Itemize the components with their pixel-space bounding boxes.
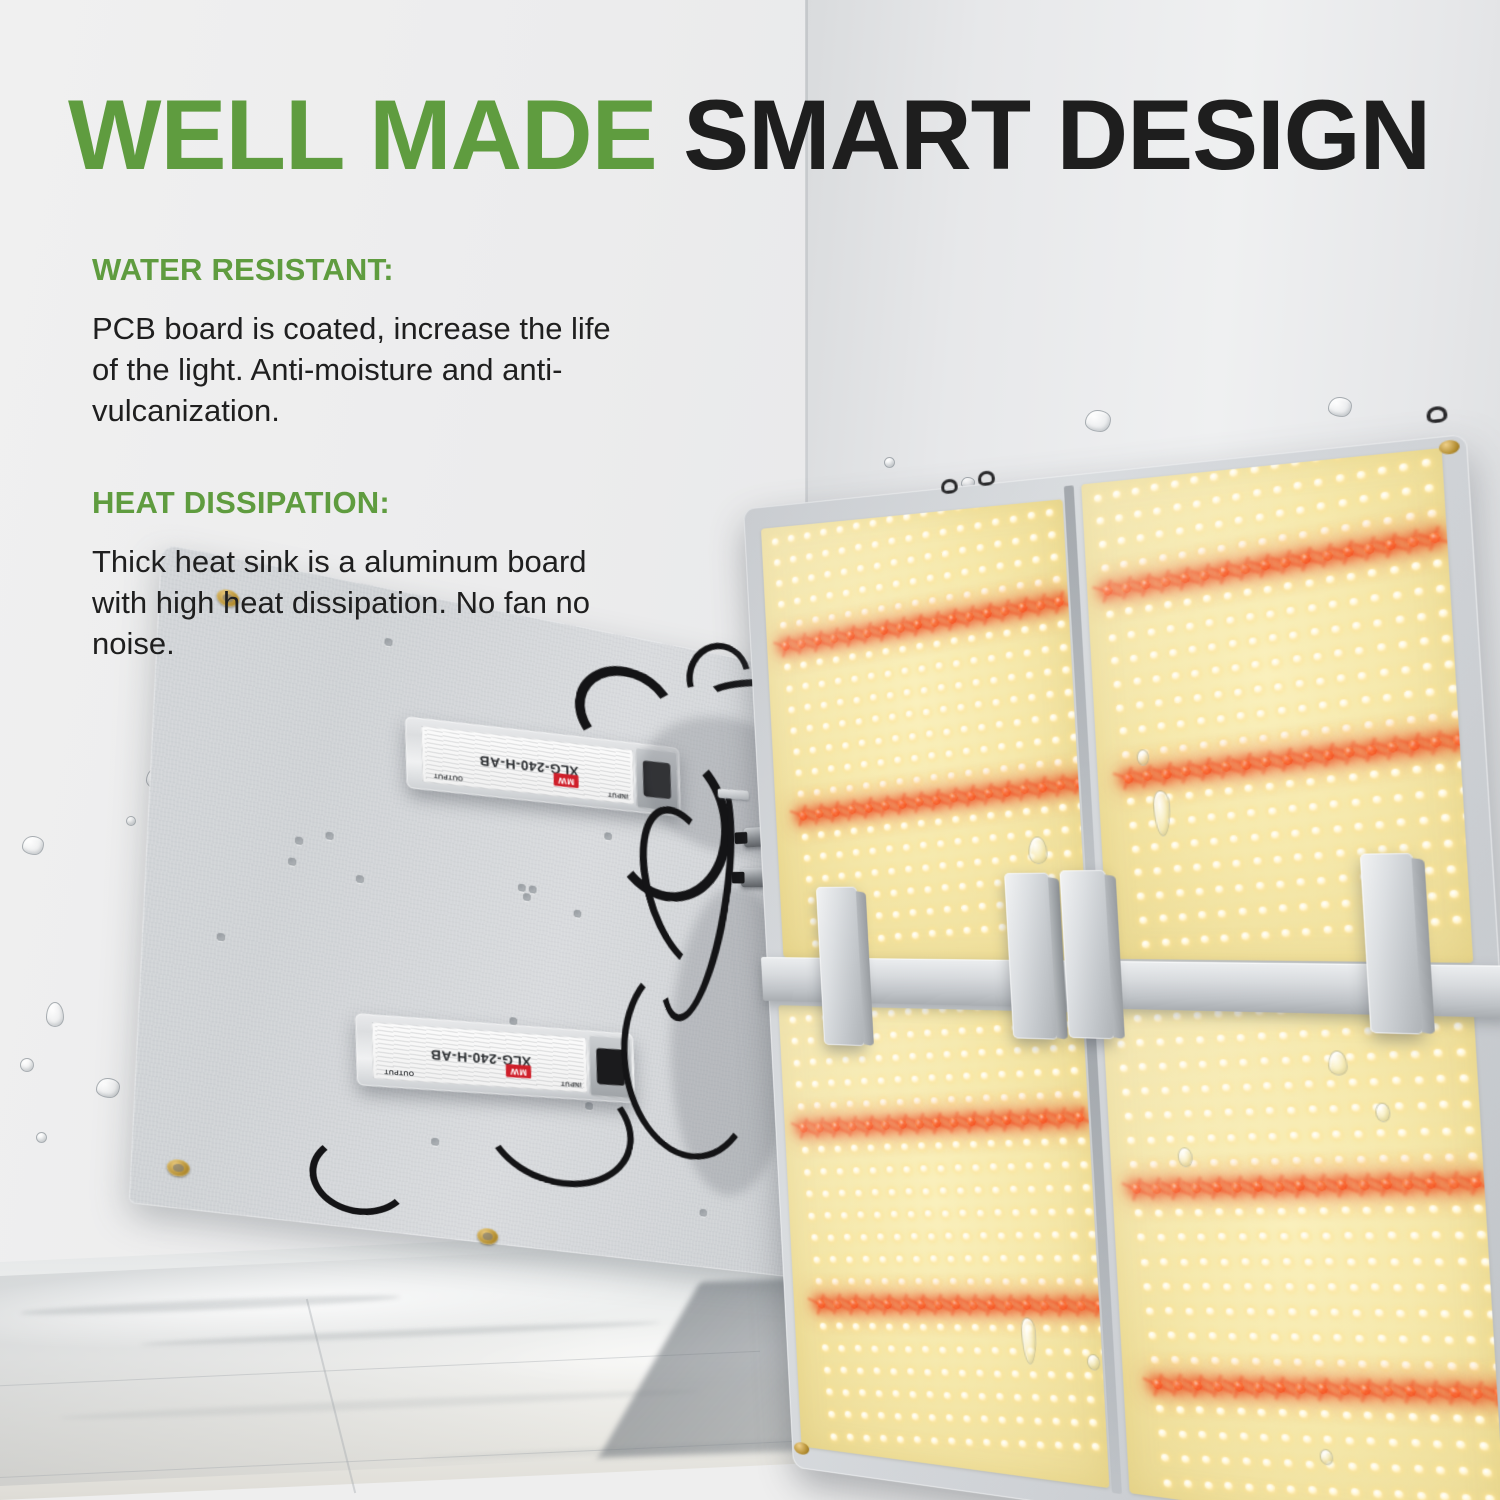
white-led xyxy=(1251,661,1260,669)
red-led xyxy=(1123,773,1134,783)
white-led xyxy=(1284,1459,1293,1468)
white-led xyxy=(1397,819,1406,827)
white-led xyxy=(1198,911,1207,919)
white-led xyxy=(1347,572,1356,581)
white-led xyxy=(1047,691,1055,699)
white-led xyxy=(1205,789,1214,797)
white-led xyxy=(856,718,863,725)
white-led xyxy=(1396,1309,1405,1318)
white-led xyxy=(838,547,845,555)
white-led xyxy=(1088,1231,1096,1239)
white-led xyxy=(1374,1309,1383,1318)
white-led xyxy=(1138,725,1146,733)
white-led xyxy=(1341,1207,1350,1216)
white-led xyxy=(1231,664,1240,672)
white-led xyxy=(824,571,831,579)
white-led xyxy=(1414,587,1423,596)
white-led xyxy=(849,654,856,662)
white-led xyxy=(880,1099,887,1107)
white-led xyxy=(828,614,835,622)
white-led xyxy=(1139,1063,1147,1071)
white-led xyxy=(885,670,892,678)
white-led xyxy=(1144,604,1152,612)
white-led xyxy=(901,822,908,829)
white-led xyxy=(980,745,988,753)
white-led xyxy=(1287,1485,1296,1494)
white-led xyxy=(924,1368,931,1376)
white-led xyxy=(786,685,793,692)
white-led xyxy=(1349,1283,1358,1292)
white-led xyxy=(902,513,909,521)
white-led xyxy=(1290,1132,1299,1140)
white-led xyxy=(1109,634,1117,642)
white-led xyxy=(1196,1406,1205,1415)
white-led xyxy=(835,678,842,685)
white-led xyxy=(1173,503,1181,511)
white-led xyxy=(1023,808,1031,816)
white-led xyxy=(878,934,885,941)
white-led xyxy=(861,1078,868,1085)
white-led xyxy=(844,1079,851,1086)
feature-heat-dissipation: HEAT DISSIPATION: Thick heat sink is a a… xyxy=(92,485,632,665)
white-led xyxy=(797,791,804,798)
white-led xyxy=(1011,696,1019,704)
white-led xyxy=(1036,761,1044,769)
white-led xyxy=(1044,669,1052,677)
red-led xyxy=(966,791,976,801)
white-led xyxy=(963,1073,971,1081)
white-led xyxy=(1161,939,1169,947)
white-led xyxy=(1335,474,1344,483)
white-led xyxy=(855,1345,862,1353)
red-led xyxy=(916,1299,926,1309)
white-led xyxy=(1218,1233,1227,1241)
white-led xyxy=(1277,1207,1286,1215)
white-led xyxy=(1020,1278,1028,1286)
red-led xyxy=(1057,1300,1067,1311)
white-led xyxy=(1340,699,1349,707)
red-led xyxy=(1054,597,1064,607)
red-led xyxy=(1160,576,1171,587)
white-led xyxy=(924,1029,931,1036)
white-led xyxy=(965,1095,973,1103)
white-led xyxy=(959,547,967,555)
water-droplet xyxy=(22,836,44,855)
white-led xyxy=(1276,510,1285,519)
white-led xyxy=(1000,1255,1008,1263)
white-led xyxy=(1348,773,1357,781)
red-led xyxy=(1338,1384,1350,1396)
white-led xyxy=(948,1096,956,1104)
red-led xyxy=(1179,573,1190,584)
white-led xyxy=(1436,1466,1446,1475)
white-led xyxy=(1134,869,1142,877)
white-led xyxy=(1328,600,1337,609)
red-led xyxy=(931,795,941,805)
red-led xyxy=(1253,1382,1264,1393)
white-led xyxy=(1130,654,1138,662)
white-led xyxy=(1477,1231,1487,1240)
white-led xyxy=(1222,1084,1231,1092)
white-led xyxy=(1310,628,1319,636)
white-led xyxy=(1370,1078,1379,1086)
white-led xyxy=(1243,589,1252,597)
white-led xyxy=(818,831,825,838)
white-led xyxy=(1328,1283,1337,1292)
white-led xyxy=(1010,1186,1018,1194)
red-led xyxy=(932,1118,942,1128)
white-led xyxy=(1201,935,1210,943)
red-led xyxy=(879,626,888,636)
white-led xyxy=(812,1080,819,1087)
white-led xyxy=(996,1393,1004,1401)
white-led xyxy=(869,1323,876,1331)
red-led xyxy=(984,1116,994,1126)
white-led xyxy=(1142,1087,1150,1095)
white-led xyxy=(975,701,983,709)
white-led xyxy=(809,746,816,753)
red-led xyxy=(1211,1182,1222,1193)
white-led xyxy=(1320,901,1329,909)
white-led xyxy=(1424,867,1433,875)
white-led xyxy=(913,1255,920,1263)
white-led xyxy=(822,550,829,558)
white-led xyxy=(1048,531,1056,539)
white-led xyxy=(1114,680,1122,688)
white-led xyxy=(1344,1232,1353,1241)
white-led xyxy=(858,1211,865,1219)
white-led xyxy=(1417,1102,1426,1111)
white-led xyxy=(1224,1481,1233,1490)
white-led xyxy=(1186,622,1194,630)
white-led xyxy=(940,1187,948,1195)
white-led xyxy=(1045,1348,1053,1356)
white-led xyxy=(1031,1046,1039,1054)
white-led xyxy=(862,783,869,790)
white-led xyxy=(841,1212,848,1220)
white-led xyxy=(1433,1440,1442,1449)
white-led xyxy=(1459,1074,1469,1083)
white-led xyxy=(1053,576,1061,584)
white-led xyxy=(956,1346,964,1354)
red-led xyxy=(913,620,923,630)
white-led xyxy=(1143,1282,1151,1290)
white-led xyxy=(853,1167,860,1175)
white-led xyxy=(1031,716,1039,724)
white-led xyxy=(1222,1456,1231,1465)
white-led xyxy=(925,730,932,738)
red-led xyxy=(1001,787,1011,797)
white-led xyxy=(1355,1334,1364,1343)
white-led xyxy=(831,1433,838,1441)
white-led xyxy=(1005,1140,1013,1148)
red-led xyxy=(1171,1183,1182,1194)
white-led xyxy=(1276,880,1285,888)
white-led xyxy=(890,889,897,896)
white-led xyxy=(789,706,796,713)
white-led xyxy=(970,657,978,665)
white-led xyxy=(824,1366,831,1374)
red-led xyxy=(1151,1184,1162,1195)
white-led xyxy=(997,1232,1005,1240)
white-led xyxy=(1299,1409,1308,1418)
white-led xyxy=(1054,759,1062,767)
white-led xyxy=(1059,1138,1067,1146)
white-led xyxy=(1178,913,1186,921)
white-led xyxy=(1301,1232,1310,1241)
white-led xyxy=(1247,809,1256,817)
white-led xyxy=(990,1163,998,1171)
white-led xyxy=(1053,1418,1061,1426)
white-led xyxy=(864,1434,871,1442)
white-led xyxy=(842,1057,849,1064)
white-led xyxy=(812,616,819,624)
white-led xyxy=(858,740,865,747)
white-led xyxy=(1338,875,1347,883)
white-led xyxy=(1441,1309,1451,1318)
white-led xyxy=(1309,803,1318,811)
red-led xyxy=(1199,570,1210,581)
white-led xyxy=(895,1413,902,1421)
white-led xyxy=(990,676,998,684)
white-led xyxy=(968,635,976,643)
white-led xyxy=(1344,924,1353,932)
white-led xyxy=(1151,483,1159,491)
white-led xyxy=(1069,1395,1077,1403)
white-led xyxy=(1015,741,1023,749)
red-led xyxy=(1239,563,1250,574)
white-led xyxy=(1016,1070,1024,1078)
red-led xyxy=(1315,1180,1327,1191)
white-led xyxy=(1239,736,1248,744)
white-led xyxy=(961,905,969,912)
red-led xyxy=(848,1122,857,1132)
white-led xyxy=(1149,1160,1157,1168)
white-led xyxy=(806,876,813,883)
white-led xyxy=(1258,537,1267,546)
red-led xyxy=(966,1117,976,1127)
white-led xyxy=(1401,666,1410,675)
white-led xyxy=(1421,459,1430,468)
white-led xyxy=(852,522,859,530)
white-led xyxy=(874,891,881,898)
white-led xyxy=(975,1186,983,1194)
white-led xyxy=(896,778,903,785)
white-led xyxy=(1210,837,1219,845)
white-led xyxy=(981,1415,989,1423)
red-led xyxy=(1407,536,1419,547)
white-led xyxy=(1376,1129,1385,1138)
red-led xyxy=(1161,769,1172,779)
white-led xyxy=(1078,1137,1086,1145)
white-led xyxy=(907,888,914,895)
white-led xyxy=(1307,1283,1316,1292)
white-led xyxy=(1371,594,1380,603)
white-led xyxy=(1030,1371,1038,1379)
white-led xyxy=(1057,621,1065,629)
white-led xyxy=(1291,829,1300,837)
white-led xyxy=(1362,520,1371,529)
white-led xyxy=(858,1056,865,1063)
white-led xyxy=(1085,1207,1093,1215)
white-led xyxy=(1064,849,1072,857)
white-led xyxy=(1195,887,1204,895)
white-led xyxy=(1038,1278,1046,1286)
white-led xyxy=(964,1415,972,1423)
white-led xyxy=(1381,491,1390,500)
white-led xyxy=(822,874,829,881)
white-led xyxy=(999,924,1007,931)
red-led xyxy=(1232,1182,1243,1193)
red-led xyxy=(1233,1381,1244,1392)
white-led xyxy=(922,531,929,539)
white-led xyxy=(1080,1161,1088,1169)
white-led xyxy=(901,1143,908,1151)
white-led xyxy=(924,553,931,561)
white-led xyxy=(1348,1079,1357,1087)
white-led xyxy=(1264,1283,1273,1292)
white-led xyxy=(1208,643,1217,651)
white-led xyxy=(1401,1154,1410,1163)
white-led xyxy=(1045,508,1053,516)
white-led xyxy=(1173,1012,1181,1020)
white-led xyxy=(1018,763,1026,771)
red-led xyxy=(1364,543,1376,554)
white-led xyxy=(1453,1022,1463,1030)
white-led xyxy=(1311,1131,1320,1139)
white-led xyxy=(1112,490,1120,498)
white-led xyxy=(806,553,813,561)
white-led xyxy=(844,763,851,770)
white-led xyxy=(1356,470,1365,479)
white-led xyxy=(1201,1456,1210,1465)
white-led xyxy=(1010,855,1018,863)
white-led xyxy=(1273,1358,1282,1367)
white-led xyxy=(855,1189,862,1197)
white-led xyxy=(843,1389,850,1397)
white-led xyxy=(839,720,846,727)
white-led xyxy=(912,599,919,607)
white-led xyxy=(1408,1413,1417,1422)
white-led xyxy=(942,884,950,891)
white-led xyxy=(1089,1419,1097,1428)
white-led xyxy=(1240,1058,1249,1066)
red-led xyxy=(1404,1385,1416,1397)
white-led xyxy=(1178,551,1186,559)
white-led xyxy=(794,598,801,606)
white-led xyxy=(969,814,977,822)
white-led xyxy=(960,1050,968,1058)
white-led xyxy=(1153,1014,1161,1022)
white-led xyxy=(913,776,920,783)
white-led xyxy=(1180,744,1188,752)
white-led xyxy=(1028,694,1036,702)
red-led xyxy=(968,1300,978,1310)
water-droplet xyxy=(36,1132,47,1143)
white-led xyxy=(826,592,833,600)
white-led xyxy=(1395,1103,1404,1112)
white-led xyxy=(903,844,910,851)
white-led xyxy=(989,834,997,842)
white-led xyxy=(1039,624,1047,632)
white-led xyxy=(1404,691,1413,700)
white-led xyxy=(1441,814,1451,822)
red-led xyxy=(1387,742,1399,753)
white-led xyxy=(941,1028,949,1036)
white-led xyxy=(1265,783,1274,791)
white-led xyxy=(863,1100,870,1108)
white-led xyxy=(997,901,1005,908)
red-led xyxy=(862,628,871,638)
white-led xyxy=(1144,1112,1152,1120)
white-led xyxy=(1317,876,1326,884)
white-led xyxy=(1133,678,1141,686)
white-led xyxy=(955,1164,963,1172)
white-led xyxy=(1183,1283,1191,1291)
white-led xyxy=(831,1278,838,1286)
red-led xyxy=(1003,1300,1013,1310)
white-led xyxy=(946,594,954,602)
white-led xyxy=(1357,1155,1366,1164)
page-headline: WELL MADE SMART DESIGN xyxy=(68,85,1468,184)
white-led xyxy=(972,1164,980,1172)
red-led xyxy=(1121,583,1132,594)
white-led xyxy=(987,812,995,820)
white-led xyxy=(1249,1333,1258,1342)
white-led xyxy=(946,928,954,935)
white-led xyxy=(1254,685,1263,693)
white-led xyxy=(1415,1283,1424,1292)
white-led xyxy=(1033,739,1041,747)
white-led xyxy=(928,752,936,760)
white-led xyxy=(970,1141,978,1149)
white-led xyxy=(1373,1489,1382,1498)
led-light-board xyxy=(743,434,1500,1500)
white-led xyxy=(1436,584,1446,593)
red-led xyxy=(831,807,840,816)
white-led xyxy=(1392,1464,1401,1473)
white-led xyxy=(1139,557,1147,565)
white-led xyxy=(1164,1111,1172,1119)
white-led xyxy=(1153,507,1161,515)
white-led xyxy=(1329,1487,1338,1496)
red-led xyxy=(1470,1177,1482,1188)
white-led xyxy=(1274,683,1283,691)
white-led xyxy=(839,1190,846,1198)
white-led xyxy=(1049,1045,1057,1053)
white-led xyxy=(925,1210,932,1218)
white-led xyxy=(1342,1411,1351,1420)
white-led xyxy=(1442,634,1452,643)
white-led xyxy=(1269,1132,1278,1140)
white-led xyxy=(890,1368,897,1376)
white-led xyxy=(935,818,943,825)
white-led xyxy=(1305,579,1314,588)
white-led xyxy=(1420,1128,1429,1137)
white-led xyxy=(1435,1257,1444,1266)
white-led xyxy=(871,1345,878,1353)
white-led xyxy=(1252,489,1261,498)
white-led xyxy=(828,1410,835,1418)
water-droplet xyxy=(96,1078,120,1098)
white-led xyxy=(1070,1067,1078,1075)
white-led xyxy=(1287,1106,1296,1114)
white-led xyxy=(886,1323,893,1331)
white-led xyxy=(989,1324,997,1332)
white-led xyxy=(873,562,880,570)
white-led xyxy=(884,824,891,831)
white-led xyxy=(834,1145,841,1153)
